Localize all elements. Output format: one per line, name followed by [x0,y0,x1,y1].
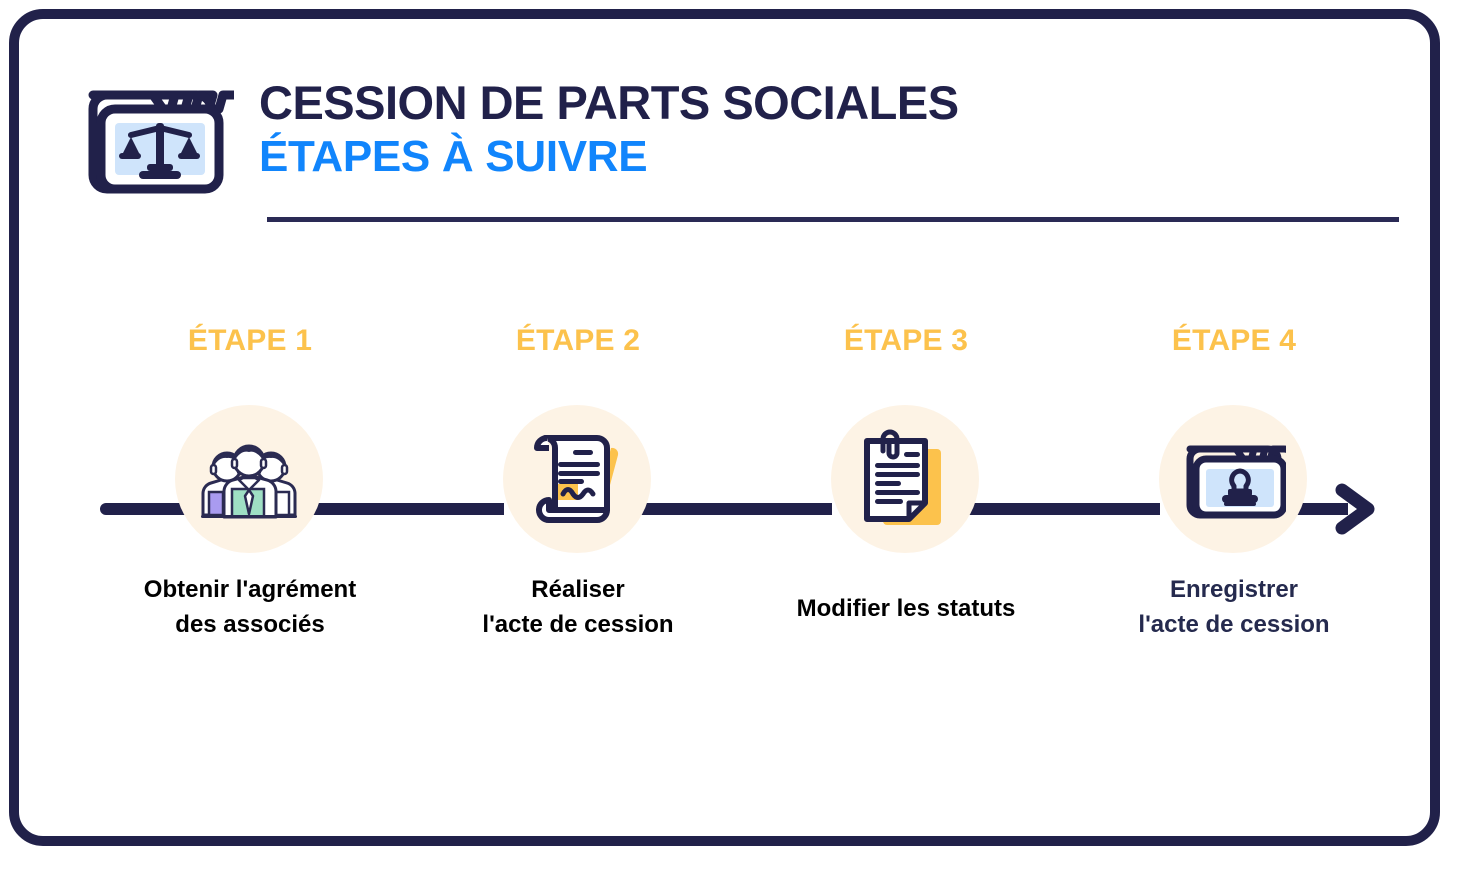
step-4-caption: Enregistrer l'acte de cession [1084,573,1384,643]
step-2-caption: Réaliser l'acte de cession [428,573,728,643]
group-of-people-icon [175,405,323,553]
step-3-label: ÉTAPE 3 [756,319,1056,363]
timeline: ÉTAPE 1 [19,319,1430,739]
step-2-icon-area [428,363,728,563]
step-4-label: ÉTAPE 4 [1084,319,1384,363]
folder-with-stamp-icon [1159,405,1307,553]
step-2-label: ÉTAPE 2 [428,319,728,363]
step-4-icon-area [1084,363,1384,563]
signed-contract-scroll-with-pen-icon [503,405,651,553]
step-1-icon-area [100,363,400,563]
page-title: CESSION DE PARTS SOCIALES [259,77,959,130]
infographic-card: CESSION DE PARTS SOCIALES ÉTAPES À SUIVR… [9,9,1440,846]
header: CESSION DE PARTS SOCIALES ÉTAPES À SUIVR… [19,19,1430,239]
title-block: CESSION DE PARTS SOCIALES ÉTAPES À SUIVR… [259,77,959,181]
title-divider [267,217,1399,222]
timeline-step-1: ÉTAPE 1 [100,319,400,643]
step-3-icon-area [756,363,1056,563]
step-3-caption: Modifier les statuts [756,592,1056,627]
step-1-caption: Obtenir l'agrément des associés [100,573,400,643]
page-subtitle: ÉTAPES À SUIVRE [259,132,959,181]
document-with-paperclip-icon [831,405,979,553]
timeline-step-3: ÉTAPE 3 [756,319,1056,627]
folder-scales-of-justice-icon [79,69,234,214]
step-1-label: ÉTAPE 1 [100,319,400,363]
timeline-step-2: ÉTAPE 2 [428,319,728,643]
timeline-step-4: ÉTAPE 4 [1084,319,1384,643]
